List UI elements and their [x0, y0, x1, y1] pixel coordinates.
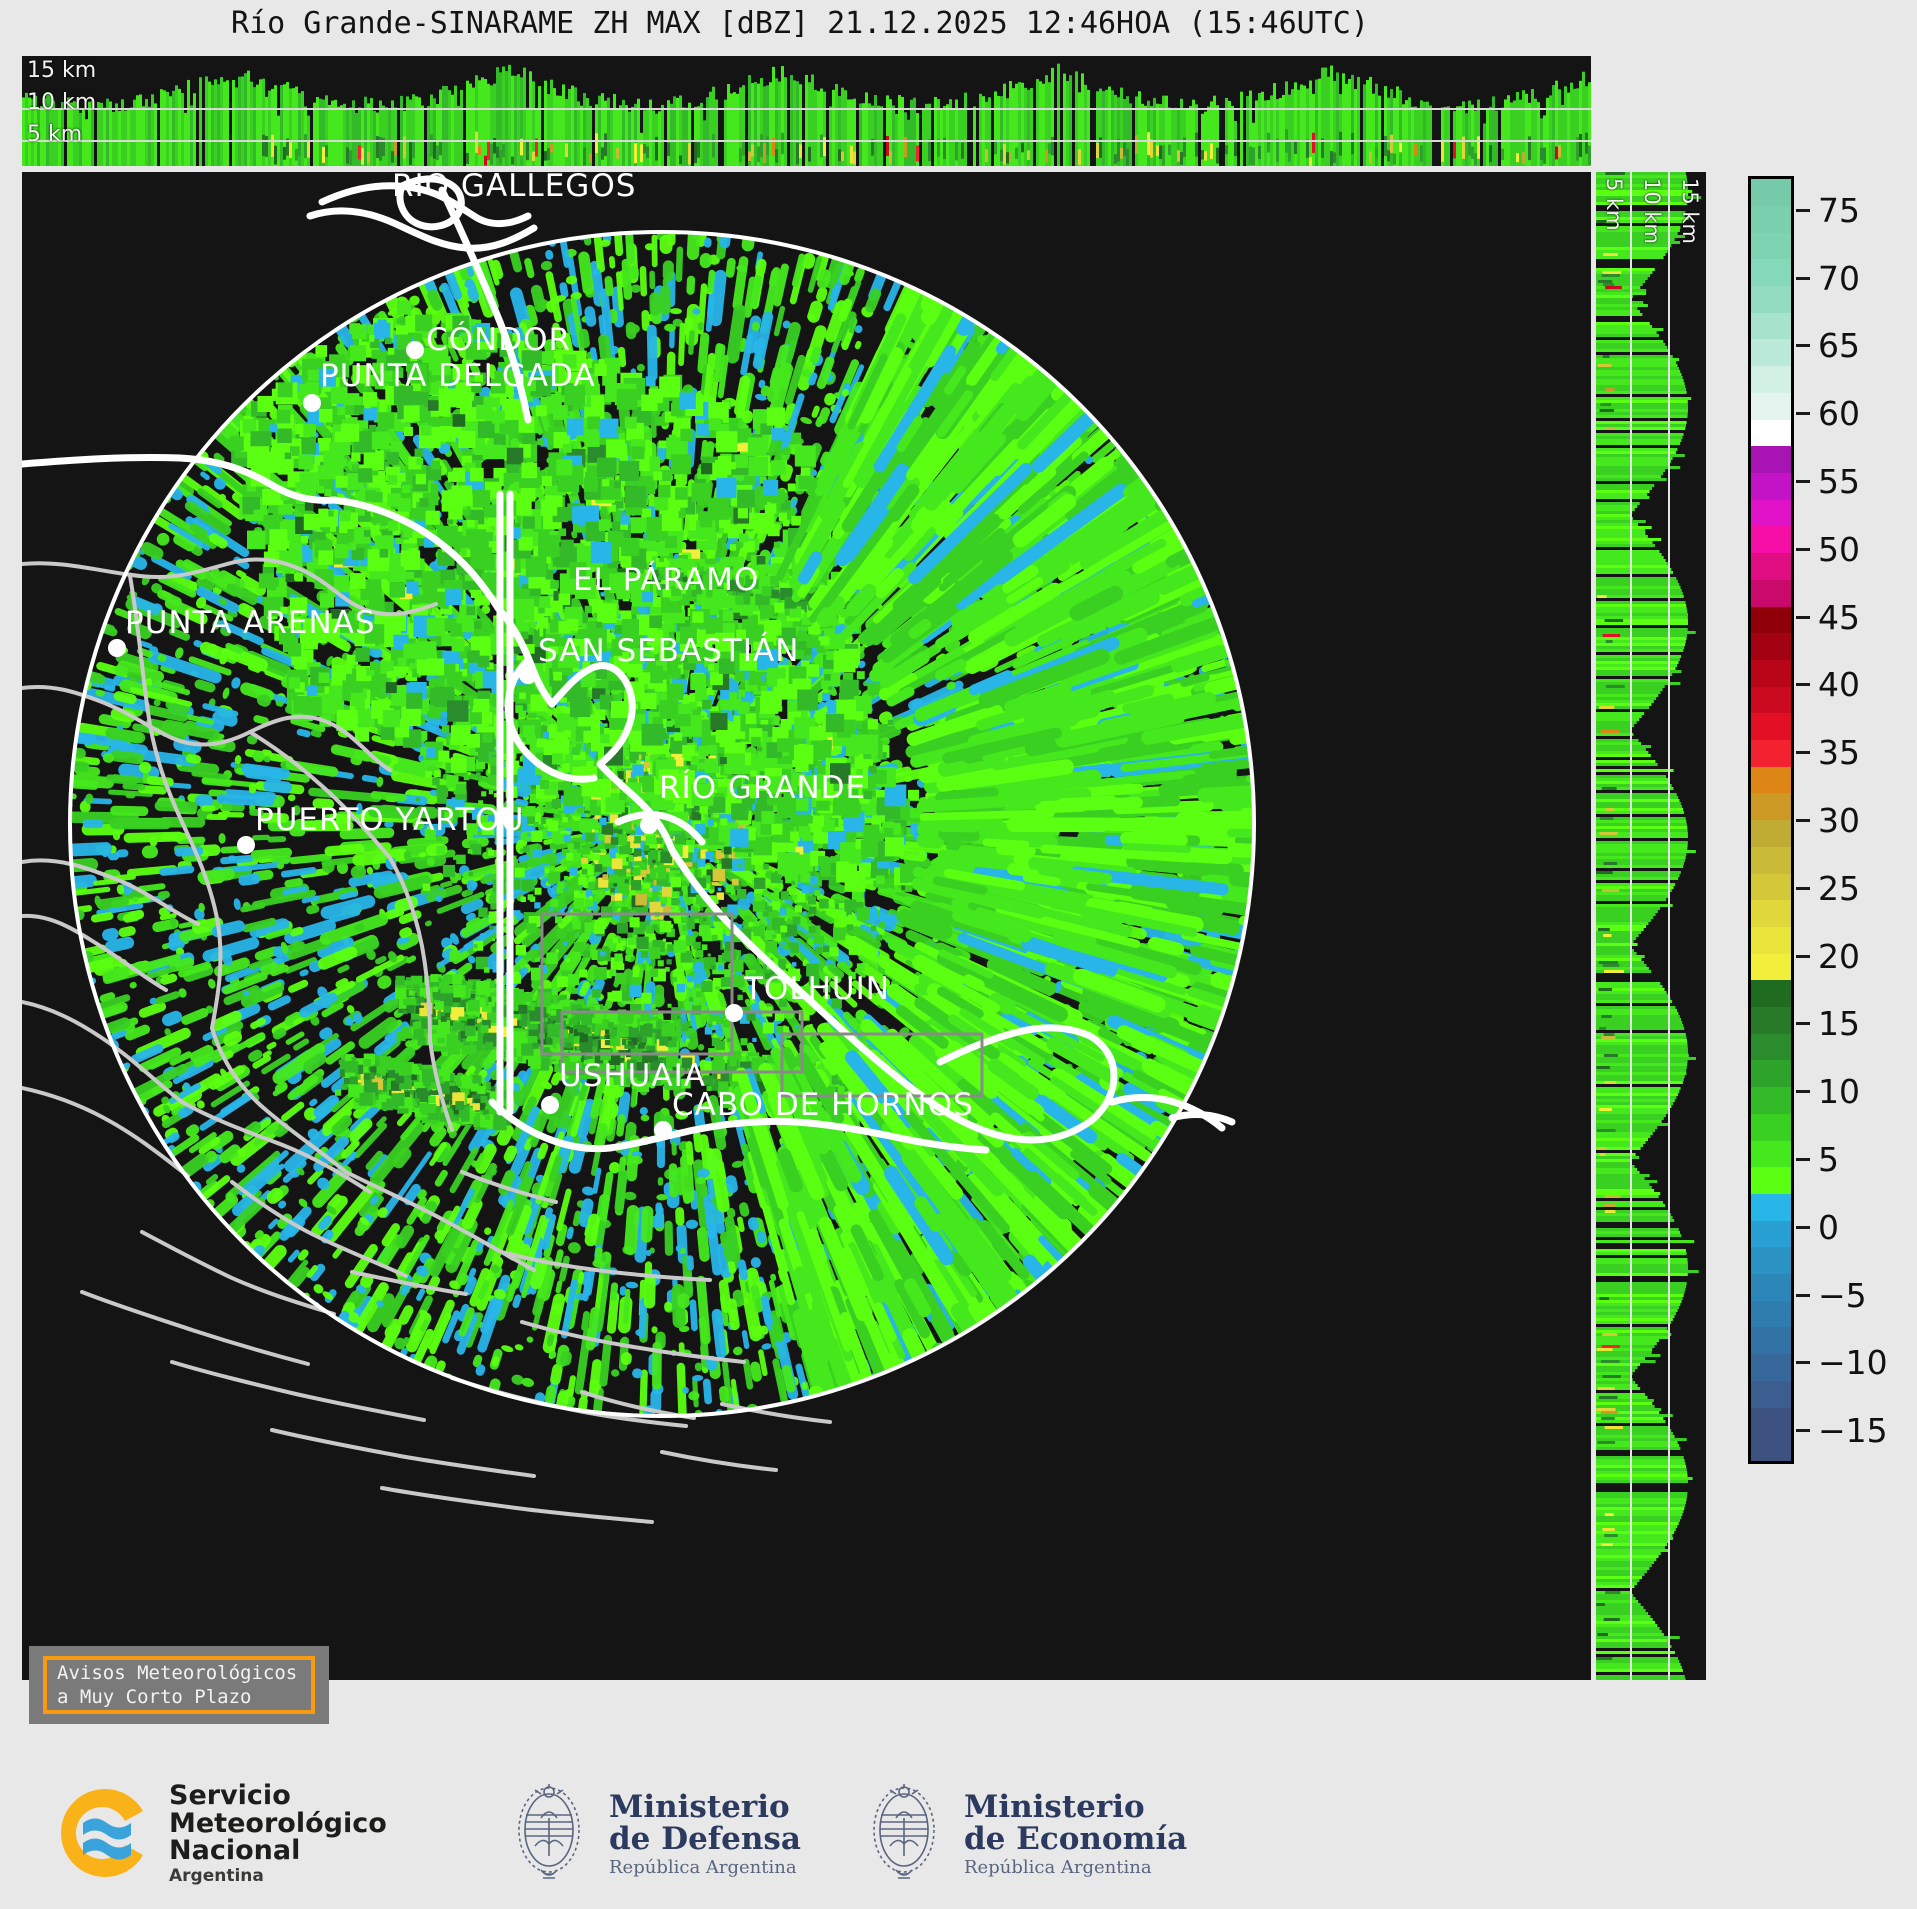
echo-streak	[160, 833, 189, 840]
echo-streak	[750, 1256, 762, 1269]
echo-streak	[611, 1369, 620, 1377]
echo-cell	[679, 156, 682, 165]
echo-column	[511, 76, 514, 166]
echo-streak	[670, 308, 682, 314]
echo-column	[328, 105, 331, 166]
echo-column	[142, 106, 145, 166]
echo-cell	[796, 143, 799, 164]
echo-column	[103, 108, 106, 166]
echo-column	[1456, 106, 1459, 166]
echo-column	[679, 96, 682, 166]
echo-streak	[719, 214, 733, 249]
echo-streak	[640, 1114, 649, 1121]
echo-cell	[1489, 145, 1492, 162]
echo-column	[1366, 80, 1369, 166]
echo-cell	[1441, 141, 1444, 162]
echo-column	[523, 68, 526, 166]
echo-column	[631, 107, 634, 166]
echo-column	[673, 96, 676, 166]
echo-column	[580, 106, 583, 166]
echo-column	[1105, 90, 1108, 166]
radar-map-panel[interactable]: RÍO GALLEGOSCÓNDORPUNTA DELGADAPUNTA ARE…	[22, 172, 1591, 1680]
echo-column	[1285, 81, 1288, 166]
echo-cell	[1180, 152, 1183, 165]
echo-cell	[304, 134, 307, 158]
echo-column	[1312, 94, 1315, 166]
echo-streak	[405, 954, 417, 964]
echo-column	[1414, 107, 1417, 166]
echo-cell	[961, 143, 964, 159]
echo-column	[1165, 96, 1168, 166]
echo-cell	[1588, 146, 1591, 166]
echo-cell	[466, 153, 469, 164]
echo-column	[343, 104, 346, 166]
echo-column	[859, 104, 862, 166]
echo-streak	[221, 687, 230, 700]
echo-column	[703, 120, 706, 166]
echo-streak	[1051, 1260, 1101, 1314]
echo-column	[1537, 102, 1540, 166]
echo-cell	[1123, 143, 1126, 157]
echo-streak	[526, 1336, 534, 1344]
echo-column	[1345, 84, 1348, 166]
echo-cell	[994, 140, 997, 154]
echo-column	[553, 88, 556, 166]
echo-column	[481, 77, 484, 166]
echo-streak	[180, 1007, 210, 1027]
echo-column	[517, 74, 520, 166]
echo-cell	[1210, 143, 1213, 159]
echo-column	[514, 76, 517, 166]
echo-column	[1357, 77, 1360, 166]
echo-column	[352, 100, 355, 166]
echo-column	[166, 92, 169, 166]
echo-column	[619, 105, 622, 166]
echo-column	[1552, 85, 1555, 166]
echo-streak	[22, 798, 73, 811]
echo-column	[508, 65, 511, 166]
echo-column	[1084, 85, 1087, 166]
echo-streak	[567, 1375, 577, 1397]
echo-column	[628, 112, 631, 166]
echo-streak	[342, 264, 376, 311]
echo-cell	[499, 150, 502, 163]
echo-streak	[573, 1396, 588, 1445]
echo-streak	[146, 776, 174, 787]
echo-column	[727, 84, 730, 166]
echo-column	[187, 80, 190, 166]
echo-column	[613, 94, 616, 166]
echo-cell	[850, 146, 853, 164]
echo-cell	[1471, 147, 1474, 159]
echo-column	[1585, 86, 1588, 166]
echo-cell	[751, 145, 754, 157]
echo-column	[223, 82, 226, 166]
echo-column	[736, 94, 739, 166]
echo-cell	[1414, 144, 1417, 155]
echo-cell	[766, 136, 769, 155]
echo-column	[280, 85, 283, 166]
echo-streak	[1211, 580, 1275, 615]
echo-streak	[231, 326, 280, 382]
echo-column	[1129, 103, 1132, 166]
echo-cell	[604, 133, 607, 156]
echo-column	[604, 101, 607, 166]
echo-column	[100, 103, 103, 166]
echo-cell	[565, 143, 568, 157]
echo-column	[1417, 108, 1420, 166]
echo-column	[1057, 64, 1060, 166]
echo-column	[178, 89, 181, 166]
echo-column	[169, 96, 172, 166]
echo-column	[880, 106, 883, 166]
echo-column	[1492, 96, 1495, 166]
echo-column	[139, 94, 142, 166]
echo-column	[154, 103, 157, 166]
echo-streak	[738, 1201, 750, 1217]
echo-streak	[685, 1219, 698, 1229]
echo-streak	[287, 979, 310, 994]
echo-streak	[625, 232, 635, 264]
echo-cell	[841, 152, 844, 161]
echo-column	[445, 86, 448, 166]
echo-cell	[1117, 139, 1120, 161]
echo-cell	[1306, 140, 1309, 158]
echo-streak	[361, 774, 378, 783]
echo-column	[610, 110, 613, 166]
echo-streak	[715, 182, 732, 236]
echo-cell	[262, 135, 265, 157]
echo-column	[1036, 79, 1039, 166]
echo-column	[340, 105, 343, 166]
echo-column	[1246, 96, 1249, 166]
echo-streak	[125, 792, 135, 799]
echo-cell	[1177, 150, 1180, 161]
echo-column	[484, 79, 487, 166]
echo-column	[112, 112, 115, 166]
echo-cell	[295, 149, 298, 161]
echo-column	[1213, 96, 1216, 166]
echo-column	[1564, 86, 1567, 166]
echo-cell	[838, 149, 841, 161]
echo-streak	[600, 214, 611, 244]
echo-column	[730, 93, 733, 166]
echo-column	[1507, 95, 1510, 166]
echo-cell	[1249, 147, 1252, 166]
echo-streak	[609, 256, 616, 269]
echo-streak	[614, 1170, 628, 1213]
echo-streak	[305, 904, 320, 915]
echo-column	[973, 106, 976, 166]
echo-column	[337, 107, 340, 166]
echo-cell	[1078, 149, 1081, 165]
echo-streak	[336, 964, 350, 975]
echo-column	[946, 104, 949, 166]
echo-cell	[760, 134, 763, 157]
echo-column	[1282, 95, 1285, 166]
echo-streak	[773, 305, 785, 336]
echo-column	[1426, 102, 1429, 166]
echo-streak	[195, 794, 214, 807]
echo-column	[1495, 111, 1498, 166]
echo-column	[1189, 106, 1192, 166]
echo-column	[1411, 107, 1414, 166]
echo-column	[382, 106, 385, 166]
echo-cell	[1555, 147, 1558, 160]
echo-column	[1012, 88, 1015, 166]
echo-column	[1378, 96, 1381, 166]
echo-column	[457, 106, 460, 166]
echo-column	[172, 91, 175, 166]
echo-cell	[1312, 133, 1315, 153]
echo-column	[1486, 110, 1489, 166]
radar-reflectivity-layer: RÍO GALLEGOSCÓNDORPUNTA DELGADAPUNTA ARE…	[22, 172, 1591, 1680]
echo-cell	[550, 144, 553, 153]
echo-column	[700, 103, 703, 166]
echo-column	[136, 95, 139, 166]
echo-cell	[1351, 133, 1354, 154]
echo-column	[892, 105, 895, 166]
echo-column	[1018, 82, 1021, 166]
echo-column	[529, 71, 532, 166]
echo-streak	[514, 1343, 524, 1351]
echo-column	[1468, 101, 1471, 166]
echo-streak	[741, 197, 761, 252]
page-title: Río Grande-SINARAME ZH MAX [dBZ] 21.12.2…	[0, 6, 1600, 41]
echo-cell	[853, 152, 856, 165]
echo-cell	[739, 148, 742, 162]
echo-cell	[1015, 148, 1018, 159]
echo-cell	[1204, 151, 1207, 161]
echo-cell	[616, 148, 619, 159]
echo-column	[832, 90, 835, 166]
echo-column	[175, 85, 178, 166]
echo-column	[625, 105, 628, 166]
echo-cell	[271, 135, 274, 157]
echo-cell	[544, 151, 547, 161]
echo-column	[922, 109, 925, 166]
echo-streak	[699, 253, 712, 269]
echo-column	[829, 106, 832, 166]
echo-cell	[928, 139, 931, 161]
echo-streak	[625, 322, 636, 340]
echo-cell	[1216, 148, 1219, 164]
echo-streak	[686, 275, 695, 295]
echo-column	[1168, 108, 1171, 166]
echo-cell	[1168, 145, 1171, 155]
echo-column	[331, 101, 334, 166]
echo-cell	[1195, 133, 1198, 157]
echo-column	[247, 71, 250, 166]
echo-column	[148, 107, 151, 166]
echo-streak	[129, 981, 138, 989]
echo-column	[217, 84, 220, 166]
echo-column	[1264, 100, 1267, 166]
echo-column	[1024, 88, 1027, 166]
echo-column	[793, 80, 796, 166]
echo-cell	[1096, 143, 1099, 158]
echo-streak	[646, 1250, 652, 1256]
echo-column	[1066, 81, 1069, 166]
echo-cell	[634, 143, 637, 163]
echo-column	[373, 111, 376, 166]
echo-column	[1354, 89, 1357, 166]
echo-column	[1372, 94, 1375, 166]
echo-column	[835, 84, 838, 166]
echo-cell	[1468, 142, 1471, 155]
echo-streak	[741, 1330, 749, 1350]
echo-column	[238, 77, 241, 166]
echo-cell	[475, 132, 478, 153]
echo-column	[427, 106, 430, 166]
echo-streak	[676, 246, 684, 282]
echo-cell	[1330, 151, 1333, 166]
echo-streak	[206, 814, 227, 820]
echo-column	[1309, 80, 1312, 166]
echo-cell	[955, 141, 958, 160]
echo-column	[562, 84, 565, 166]
echo-streak	[664, 1302, 672, 1312]
echo-cell	[1201, 150, 1204, 159]
echo-streak	[483, 1226, 492, 1236]
echo-column	[1513, 101, 1516, 166]
top-cross-section-panel: 15 km 10 km 5 km	[22, 56, 1591, 166]
echo-streak	[725, 257, 736, 278]
top-height-label-5km: 5 km	[27, 122, 82, 147]
echo-column	[394, 108, 397, 166]
echo-column	[964, 93, 967, 166]
echo-column	[907, 120, 910, 166]
echo-cell	[1399, 142, 1402, 152]
echo-column	[997, 96, 1000, 166]
echo-streak	[523, 257, 535, 279]
echo-cell	[307, 141, 310, 158]
echo-streak	[703, 1378, 713, 1404]
echo-cell	[1369, 152, 1372, 164]
echo-column	[1270, 95, 1273, 166]
echo-cell	[349, 150, 352, 165]
echo-cell	[1234, 140, 1237, 156]
echo-cell	[1453, 142, 1456, 159]
echo-cell	[985, 149, 988, 162]
echo-column	[385, 107, 388, 166]
echo-column	[814, 90, 817, 166]
echo-column	[253, 87, 256, 166]
echo-cell	[1162, 145, 1165, 165]
echo-cell	[1000, 150, 1003, 161]
echo-column	[1573, 89, 1576, 166]
echo-column	[1087, 90, 1090, 166]
echo-column	[208, 82, 211, 166]
echo-cell	[646, 147, 649, 158]
echo-column	[130, 108, 133, 166]
echo-column	[550, 80, 553, 166]
echo-streak	[265, 1041, 277, 1051]
echo-cell	[1522, 152, 1525, 164]
echo-column	[505, 71, 508, 166]
echo-streak	[296, 728, 311, 738]
echo-column	[1561, 105, 1564, 166]
echo-cell	[484, 156, 487, 166]
echo-column	[1423, 102, 1426, 166]
echo-cell	[1516, 153, 1519, 162]
echo-column	[1444, 107, 1447, 166]
echo-group	[22, 182, 1363, 1529]
echo-cell	[1276, 139, 1279, 163]
echo-column	[1549, 95, 1552, 166]
echo-column	[1510, 102, 1513, 166]
echo-column	[226, 80, 229, 166]
echo-cell	[1159, 145, 1162, 159]
top-cross-section-echo	[22, 56, 1591, 166]
echo-column	[124, 111, 127, 166]
echo-column	[400, 96, 403, 166]
echo-streak	[651, 1326, 657, 1333]
echo-column	[1042, 84, 1045, 166]
echo-column	[82, 110, 85, 166]
echo-column	[682, 107, 685, 166]
top-height-label-15km: 15 km	[27, 58, 96, 83]
echo-column	[232, 80, 235, 166]
echo-column	[448, 90, 451, 166]
echo-cell	[589, 153, 592, 162]
echo-column	[313, 103, 316, 166]
echo-streak	[806, 299, 825, 324]
echo-cell	[1147, 132, 1150, 155]
echo-streak	[118, 925, 137, 938]
echo-streak	[540, 260, 553, 272]
echo-streak	[280, 1100, 306, 1122]
echo-cell	[409, 141, 412, 165]
echo-cell	[1393, 154, 1396, 165]
echo-column	[1303, 86, 1306, 166]
echo-column	[1402, 104, 1405, 166]
echo-cell	[274, 146, 277, 165]
echo-column	[1324, 68, 1327, 166]
echo-column	[1156, 104, 1159, 166]
echo-column	[817, 91, 820, 166]
echo-column	[709, 92, 712, 166]
echo-column	[769, 82, 772, 166]
echo-column	[598, 96, 601, 166]
echo-column	[979, 94, 982, 166]
echo-column	[898, 95, 901, 166]
echo-cell	[391, 151, 394, 162]
echo-column	[1141, 104, 1144, 166]
echo-column	[1327, 77, 1330, 166]
echo-column	[469, 84, 472, 166]
echo-cell	[1420, 145, 1423, 162]
echo-cell	[757, 146, 760, 162]
echo-streak	[67, 842, 112, 857]
echo-column	[460, 90, 463, 166]
echo-column	[1318, 79, 1321, 166]
echo-cell	[640, 144, 643, 162]
echo-cell	[346, 148, 349, 164]
echo-cell	[1258, 146, 1261, 159]
echo-streak	[584, 306, 597, 328]
echo-cell	[1048, 143, 1051, 153]
echo-cell	[916, 145, 919, 161]
echo-column	[151, 94, 154, 166]
echo-cell	[394, 140, 397, 156]
echo-cell	[748, 151, 751, 160]
echo-cell	[1003, 144, 1006, 164]
echo-cell	[1339, 132, 1342, 156]
echo-column	[163, 90, 166, 166]
echo-cell	[1135, 135, 1138, 154]
echo-column	[256, 85, 259, 166]
